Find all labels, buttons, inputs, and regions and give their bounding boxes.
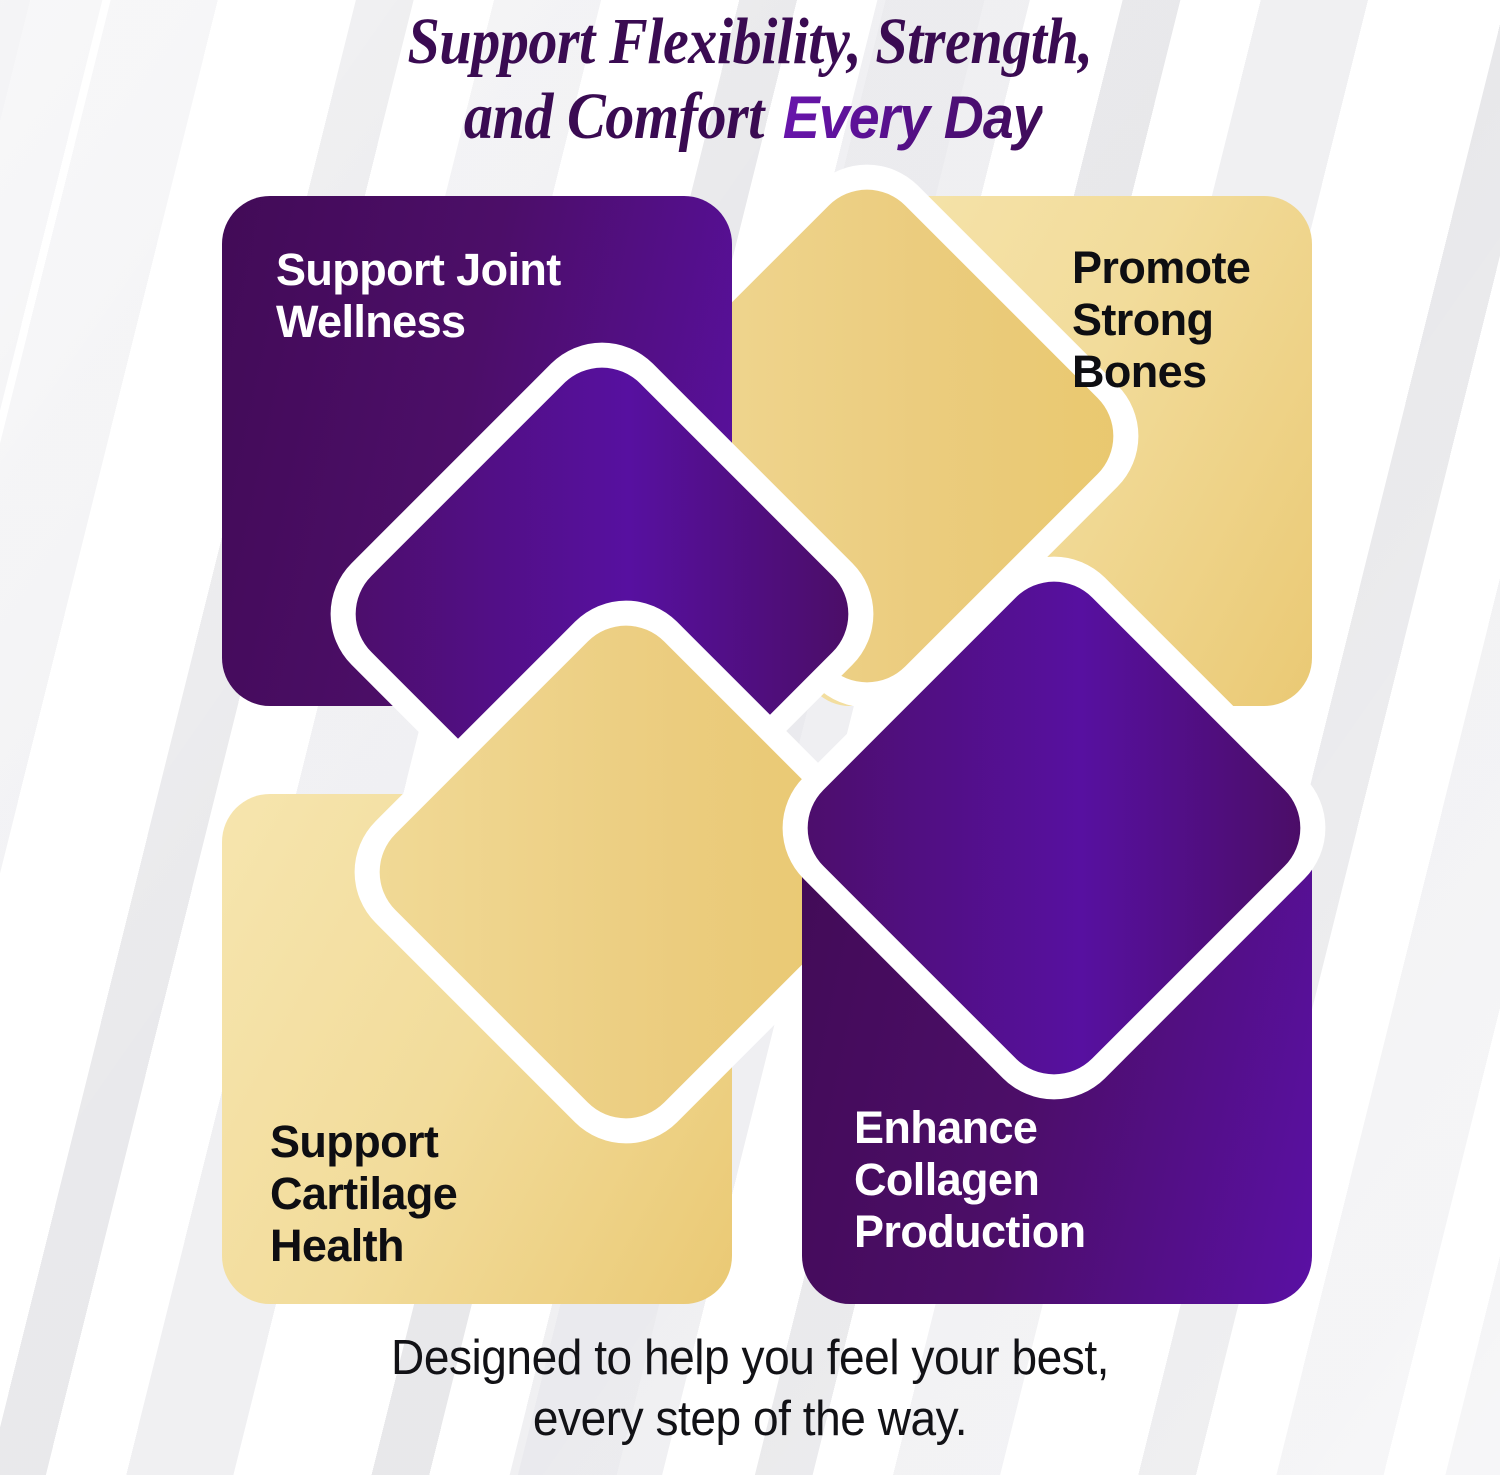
- card-title-joint: Support Joint Wellness: [276, 244, 676, 348]
- benefit-card-support-cartilage-health[interactable]: Support Cartilage Health: [222, 794, 732, 1304]
- yoga-arm: [869, 312, 932, 322]
- runner-shoe-front: [537, 479, 681, 510]
- benefit-card-grid: Support Joint Wellness: [222, 196, 1312, 1304]
- headline-line-2: and Comfort Every Day: [152, 81, 1349, 152]
- footer-caption: Designed to help you feel your best, eve…: [45, 1328, 1455, 1451]
- infographic-stage: Support Flexibility, Strength, and Comfo…: [0, 0, 1500, 1475]
- card-title-collagen: Enhance Collagen Production: [854, 1102, 1254, 1259]
- runner-shoe-back: [585, 487, 731, 502]
- card-title-bones: Promote Strong Bones: [1072, 242, 1302, 399]
- headline-line-1: Support Flexibility, Strength,: [152, 6, 1349, 77]
- yoga-face: [849, 299, 908, 333]
- headline-line-2-prefix: and Comfort: [464, 80, 778, 153]
- benefit-card-enhance-collagen-production[interactable]: Enhance Collagen Production: [802, 794, 1312, 1304]
- footer-caption-line-1: Designed to help you feel your best,: [391, 1331, 1109, 1385]
- footer-caption-line-2: every step of the way.: [45, 1389, 1455, 1450]
- card-title-cartilage: Support Cartilage Health: [270, 1116, 530, 1273]
- yoga-hair: [805, 296, 899, 338]
- runner-shorts: [625, 479, 749, 510]
- headline-emphasis: Every Day: [772, 86, 1043, 151]
- headline: Support Flexibility, Strength, and Comfo…: [0, 6, 1500, 153]
